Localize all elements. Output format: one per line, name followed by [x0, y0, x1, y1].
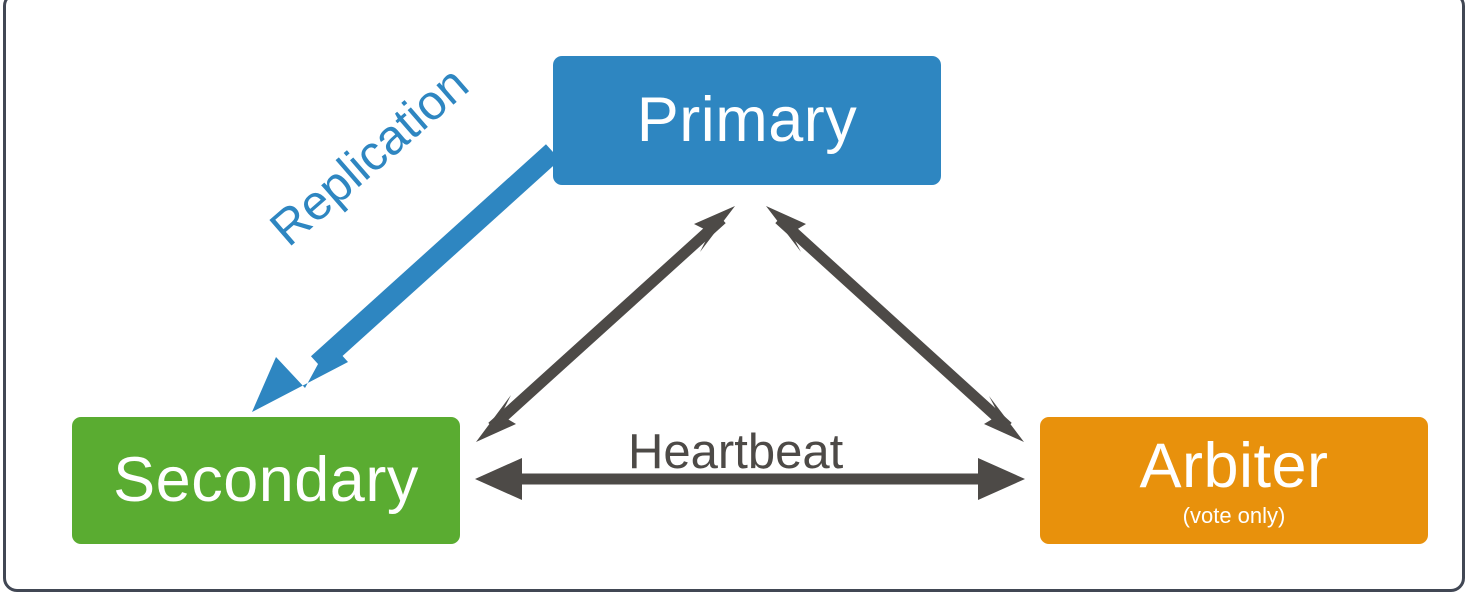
node-arbiter-sublabel: (vote only) [1183, 505, 1286, 527]
edge-heartbeat-primary-secondary [476, 206, 735, 442]
node-arbiter[interactable]: Arbiter (vote only) [1040, 417, 1428, 544]
diagram-slide: Primary Secondary Arbiter (vote only) Re… [0, 0, 1471, 606]
hb-ps-head-secondary [476, 395, 516, 442]
hb-pa-shaft [779, 219, 1008, 427]
edge-label-heartbeat: Heartbeat [628, 424, 843, 480]
hb-pa-head-arbiter [984, 396, 1024, 442]
node-primary[interactable]: Primary [553, 56, 941, 185]
hb-sa-head-arbiter [978, 458, 1025, 500]
edge-heartbeat-primary-arbiter [766, 206, 1024, 442]
node-secondary[interactable]: Secondary [72, 417, 460, 544]
node-primary-label: Primary [637, 89, 858, 152]
hb-ps-shaft [492, 219, 722, 427]
node-secondary-label: Secondary [113, 449, 419, 512]
replication-arrowhead [252, 342, 348, 412]
hb-sa-head-secondary [475, 458, 522, 500]
node-arbiter-label: Arbiter [1139, 435, 1328, 498]
